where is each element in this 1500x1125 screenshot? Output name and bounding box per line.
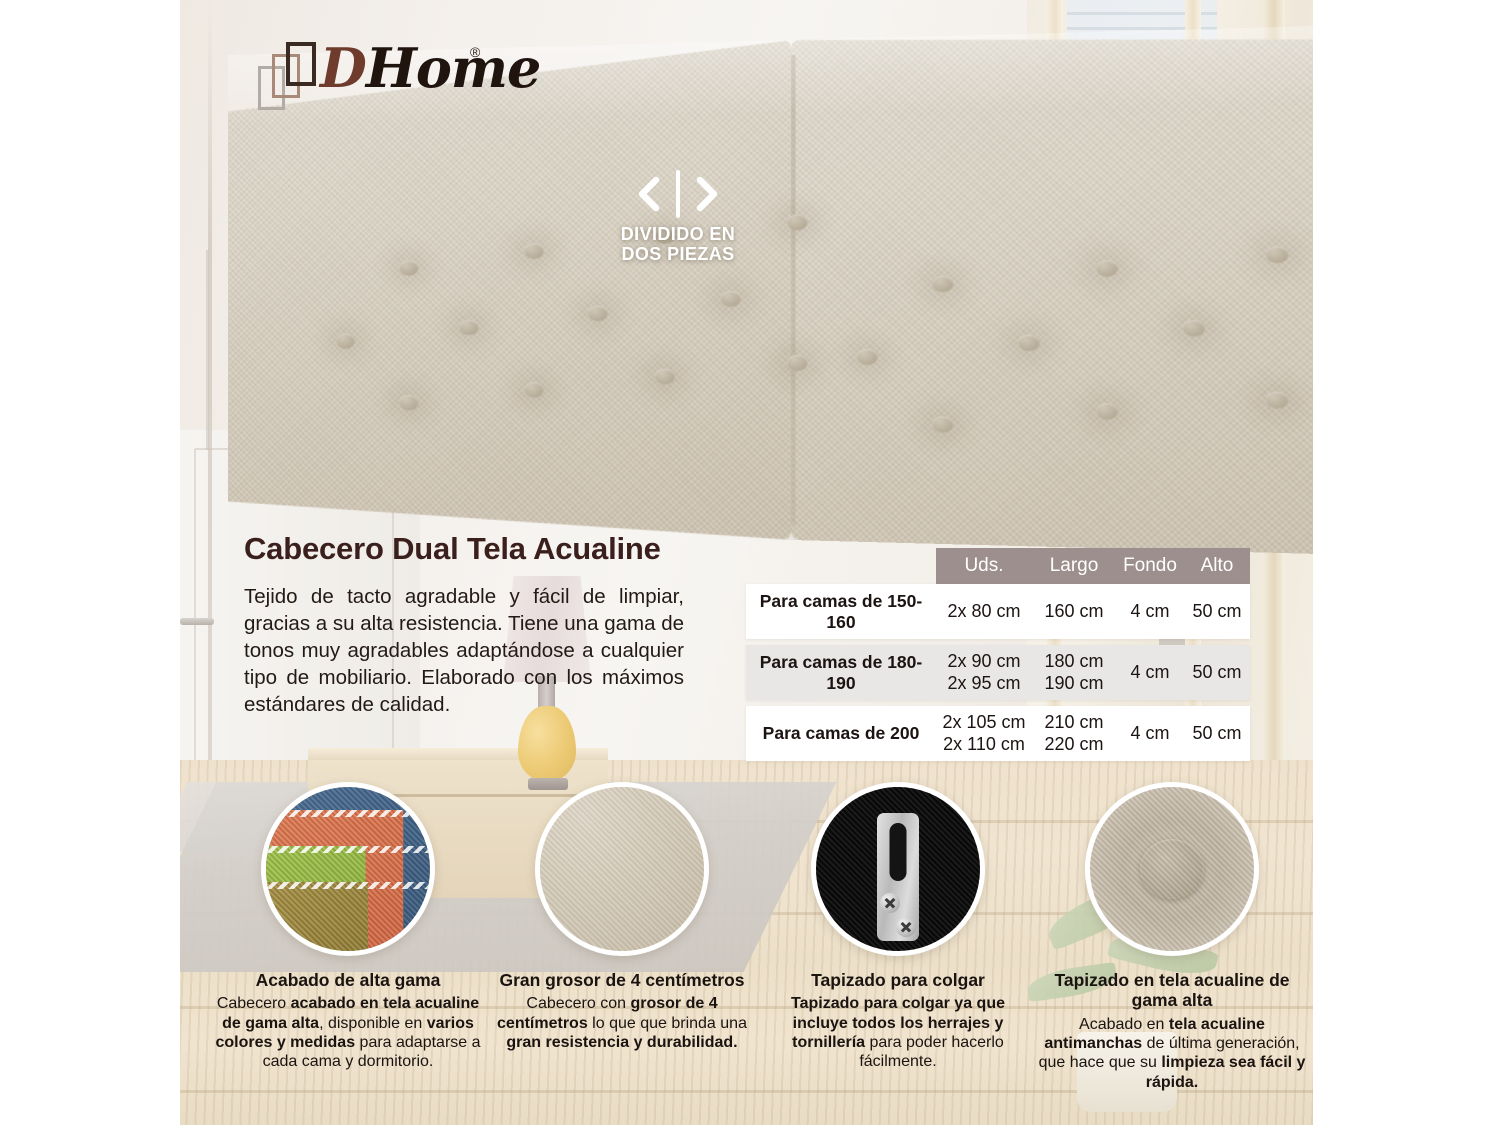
product-description: Tejido de tacto agradable y fácil de lim…: [244, 583, 684, 718]
row-largo: 180 cm 190 cm: [1032, 651, 1116, 693]
row-label: Para camas de 150-160: [746, 591, 936, 633]
pinked-edge: [261, 882, 435, 889]
feature-cards: Acabado de alta gama Cabecero acabado en…: [180, 782, 1313, 1125]
badge-line-2: DOS PIEZAS: [598, 244, 758, 264]
divided-in-two-badge: DIVIDIDO EN DOS PIEZAS: [598, 170, 758, 264]
feature-card-thickness: Gran grosor de 4 centímetros Cabecero co…: [486, 782, 758, 1052]
fabric-swatches-icon: [261, 782, 435, 956]
metal-bracket: [877, 813, 919, 941]
row-label: Para camas de 200: [746, 723, 936, 744]
brand-rest: Home: [366, 36, 541, 100]
door-handle: [180, 618, 214, 625]
column-header-fondo: Fondo: [1116, 555, 1184, 577]
row-fondo: 4 cm: [1116, 601, 1184, 622]
covered-button: [1140, 839, 1204, 899]
infographic-stage: DIVIDIDO EN DOS PIEZAS Cabecero Dual Tel…: [0, 0, 1500, 1125]
tufting-button: [1265, 246, 1288, 263]
tufting-button: [588, 306, 608, 322]
registered-mark: ®: [470, 44, 480, 60]
specifications-table: Uds. Largo Fondo Alto Para camas de 150-…: [746, 548, 1250, 761]
row-largo: 210 cm 220 cm: [1032, 712, 1116, 754]
tufting-button: [1018, 335, 1040, 351]
tufting-button: [399, 395, 419, 411]
row-uds: 2x 105 cm 2x 110 cm: [936, 712, 1032, 754]
row-fondo: 4 cm: [1116, 723, 1184, 744]
brand-logo: DHome ®: [258, 38, 498, 108]
keyhole-slot: [890, 823, 907, 881]
row-label: Para camas de 180-190: [746, 652, 936, 694]
tufting-button: [787, 355, 808, 371]
table-header-row: Uds. Largo Fondo Alto: [936, 548, 1250, 584]
tufting-button: [655, 369, 676, 385]
product-infographic-canvas: DIVIDIDO EN DOS PIEZAS Cabecero Dual Tel…: [180, 0, 1313, 1125]
brand-initial: D: [320, 36, 366, 100]
feature-body: Tapizado para colgar ya que incluye todo…: [762, 994, 1034, 1071]
tufting-button: [1265, 392, 1288, 409]
tufting-button: [1182, 320, 1205, 337]
feature-title: Tapizado en tela acualine de gama alta: [1036, 970, 1308, 1011]
tufting-button: [932, 276, 954, 292]
phillips-screw: [880, 893, 900, 913]
tufting-button: [720, 291, 741, 307]
table-row: Para camas de 200 2x 105 cm 2x 110 cm 21…: [746, 706, 1250, 761]
headboard-left-panel: [228, 40, 791, 540]
swatch-olive: [261, 882, 368, 956]
phillips-screw: [896, 917, 916, 937]
row-uds: 2x 90 cm 2x 95 cm: [936, 651, 1032, 693]
column-header-alto: Alto: [1184, 555, 1250, 577]
split-arrows-icon: [598, 170, 758, 224]
table-row: Para camas de 150-160 2x 80 cm 160 cm 4 …: [746, 584, 1250, 639]
tufting-button: [399, 260, 419, 275]
table-row: Para camas de 180-190 2x 90 cm 2x 95 cm …: [746, 645, 1250, 700]
hanging-bracket-icon: [811, 782, 985, 956]
feature-title: Acabado de alta gama: [212, 970, 484, 990]
tufting-button: [459, 320, 479, 335]
feature-title: Tapizado para colgar: [762, 970, 1034, 990]
column-header-largo: Largo: [1032, 555, 1116, 577]
tufting-button: [524, 382, 544, 398]
row-alto: 50 cm: [1184, 723, 1250, 744]
pinked-edge: [261, 810, 435, 817]
feature-body: Acabado en tela acualine antimanchas de …: [1036, 1015, 1308, 1092]
feature-card-finish: Acabado de alta gama Cabecero acabado en…: [212, 782, 484, 1072]
pinked-edge: [261, 846, 435, 853]
tufting-button: [1096, 260, 1119, 277]
door-edge: [208, 0, 212, 820]
tufting-button: [524, 243, 544, 259]
product-title: Cabecero Dual Tela Acualine: [244, 531, 714, 567]
tufting-button: [1096, 403, 1119, 420]
brand-name: DHome: [320, 36, 540, 100]
headboard-right-panel: [791, 23, 1313, 557]
corner-fabric: [535, 782, 709, 956]
headboard-center-seam: [791, 55, 795, 525]
nested-frames-icon: [286, 42, 316, 86]
column-header-uds: Uds.: [936, 555, 1032, 577]
tufting-button: [787, 214, 808, 230]
feature-body: Cabecero con grosor de 4 centímetros lo …: [486, 994, 758, 1052]
row-fondo: 4 cm: [1116, 662, 1184, 683]
badge-line-1: DIVIDIDO EN: [598, 224, 758, 244]
tufting-button: [932, 416, 954, 433]
row-largo: 160 cm: [1032, 601, 1116, 622]
feature-body: Cabecero acabado en tela acualine de gam…: [212, 994, 484, 1071]
feature-card-fabric: Tapizado en tela acualine de gama alta A…: [1036, 782, 1308, 1092]
row-alto: 50 cm: [1184, 601, 1250, 622]
upholstery-button-icon: [1085, 782, 1259, 956]
row-uds: 2x 80 cm: [936, 601, 1032, 622]
feature-card-hanging: Tapizado para colgar Tapizado para colga…: [762, 782, 1034, 1072]
tufting-button: [336, 334, 355, 349]
tufting-button: [856, 349, 878, 365]
headboard-corner-icon: [535, 782, 709, 956]
row-alto: 50 cm: [1184, 662, 1250, 683]
feature-title: Gran grosor de 4 centímetros: [486, 970, 758, 990]
